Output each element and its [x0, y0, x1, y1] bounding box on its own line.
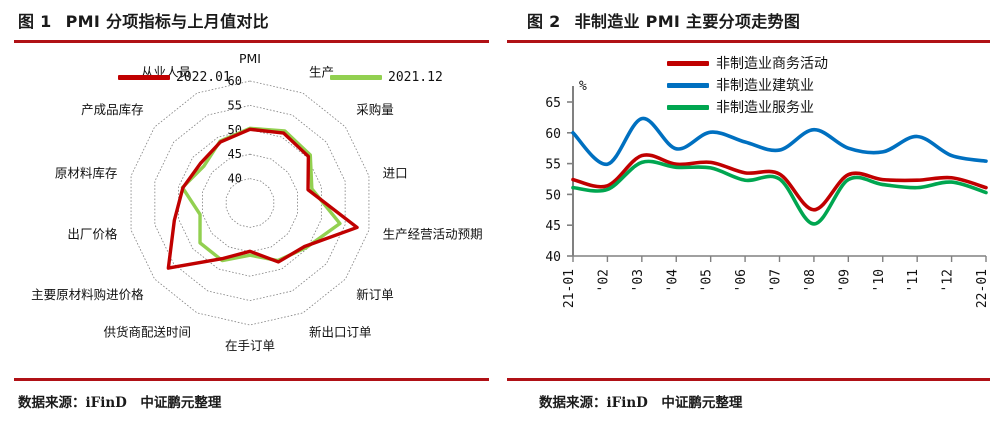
- line-chart: 非制造业商务活动 非制造业建筑业 非制造业服务业 %40455055606521…: [499, 44, 998, 374]
- line-legend-swatch-services: [667, 105, 709, 110]
- radar-category-label: 供货商配送时间: [103, 325, 191, 340]
- line-ytick-label: 40: [545, 250, 561, 265]
- figure-1-top-rule: [14, 40, 489, 43]
- line-xtick-label: '05: [700, 269, 715, 292]
- figure-2-title: 图 2非制造业 PMI 主要分项走势图: [527, 8, 800, 32]
- radar-legend-label-2022-01: 2022.01: [176, 70, 231, 85]
- radar-legend-swatch-2022-01: [118, 75, 170, 80]
- line-xtick-label: '03: [631, 269, 646, 292]
- line-legend-label-services: 非制造业服务业: [716, 97, 814, 117]
- line-xtick-label: '12: [941, 269, 956, 292]
- line-xtick-label: 22-01: [975, 269, 990, 308]
- radar-category-label: 采购量: [356, 102, 394, 117]
- line-ytick-label: 45: [545, 219, 561, 234]
- line-xtick-label: 21-01: [562, 269, 577, 308]
- radar-category-label: 原材料库存: [55, 166, 118, 181]
- line-legend-item-construction[interactable]: 非制造业建筑业: [667, 74, 828, 96]
- radar-rtick-label: 45: [228, 147, 242, 161]
- radar-category-label: 进口: [383, 166, 408, 181]
- radar-legend-item-2021-12[interactable]: 2021.12: [330, 70, 443, 85]
- figure-2-bottom-rule: [507, 378, 990, 381]
- figure-1-panel: 图 1PMI 分项指标与上月值对比 2022.01 2021.12 404550…: [0, 0, 499, 422]
- line-series-path: [573, 161, 986, 224]
- line-ytick-label: 50: [545, 188, 561, 203]
- line-ytick-label: 60: [545, 127, 561, 142]
- figure-1-bottom-rule: [14, 378, 489, 381]
- radar-legend-label-2021-12: 2021.12: [388, 70, 443, 85]
- line-xtick-label: '04: [665, 269, 680, 293]
- figure-2-panel: 图 2非制造业 PMI 主要分项走势图 非制造业商务活动 非制造业建筑业 非制造…: [499, 0, 998, 422]
- figure-1-title: 图 1PMI 分项指标与上月值对比: [18, 8, 269, 32]
- radar-plot-area: 4045505560PMI生产采购量进口生产经营活动预期新订单新出口订单在手订单…: [0, 48, 499, 374]
- line-ytick-label: 55: [545, 158, 561, 173]
- line-xtick-label: '02: [596, 269, 611, 292]
- figure-2-source: 数据来源：iFinD 中证鹏元整理: [539, 391, 742, 411]
- figure-1-title-text: PMI 分项指标与上月值对比: [66, 12, 269, 31]
- radar-category-label: 产成品库存: [81, 102, 144, 117]
- line-legend: 非制造业商务活动 非制造业建筑业 非制造业服务业: [667, 52, 828, 118]
- figure-2-title-text: 非制造业 PMI 主要分项走势图: [575, 12, 801, 31]
- figure-page: 图 1PMI 分项指标与上月值对比 2022.01 2021.12 404550…: [0, 0, 998, 422]
- radar-category-label: 在手订单: [225, 338, 275, 353]
- radar-chart: 2022.01 2021.12 4045505560PMI生产采购量进口生产经营…: [0, 48, 499, 374]
- radar-category-label: PMI: [239, 51, 261, 66]
- radar-category-label: 主要原材料购进价格: [31, 287, 144, 302]
- line-series-path: [573, 155, 986, 210]
- line-ylabel: %: [579, 79, 587, 94]
- radar-series-line: [168, 129, 357, 268]
- line-xtick-label: '09: [837, 269, 852, 292]
- radar-legend-swatch-2021-12: [330, 75, 382, 80]
- line-legend-swatch-construction: [667, 83, 709, 88]
- radar-category-label: 新出口订单: [309, 325, 372, 340]
- figure-1-source: 数据来源：iFinD 中证鹏元整理: [18, 391, 221, 411]
- line-legend-item-business[interactable]: 非制造业商务活动: [667, 52, 828, 74]
- line-legend-swatch-business: [667, 61, 709, 66]
- line-series-path: [573, 118, 986, 164]
- line-xtick-label: '08: [803, 269, 818, 292]
- figure-1-number: 图 1: [18, 12, 52, 31]
- line-xtick-label: '07: [769, 269, 784, 292]
- radar-legend: 2022.01 2021.12: [0, 70, 499, 90]
- radar-rtick-label: 40: [228, 172, 242, 186]
- line-legend-label-business: 非制造业商务活动: [716, 53, 828, 73]
- line-xtick-label: '10: [872, 269, 887, 292]
- figure-2-top-rule: [507, 40, 990, 43]
- radar-category-label: 新订单: [356, 287, 394, 302]
- radar-category-label: 出厂价格: [67, 226, 118, 241]
- radar-legend-item-2022-01[interactable]: 2022.01: [118, 70, 231, 85]
- line-legend-label-construction: 非制造业建筑业: [716, 75, 814, 95]
- line-legend-item-services[interactable]: 非制造业服务业: [667, 96, 828, 118]
- figure-2-number: 图 2: [527, 12, 561, 31]
- radar-rtick-label: 55: [228, 98, 242, 112]
- line-xtick-label: '11: [906, 269, 921, 292]
- radar-category-label: 生产经营活动预期: [383, 226, 483, 241]
- line-xtick-label: '06: [734, 269, 749, 292]
- line-ytick-label: 65: [545, 96, 561, 111]
